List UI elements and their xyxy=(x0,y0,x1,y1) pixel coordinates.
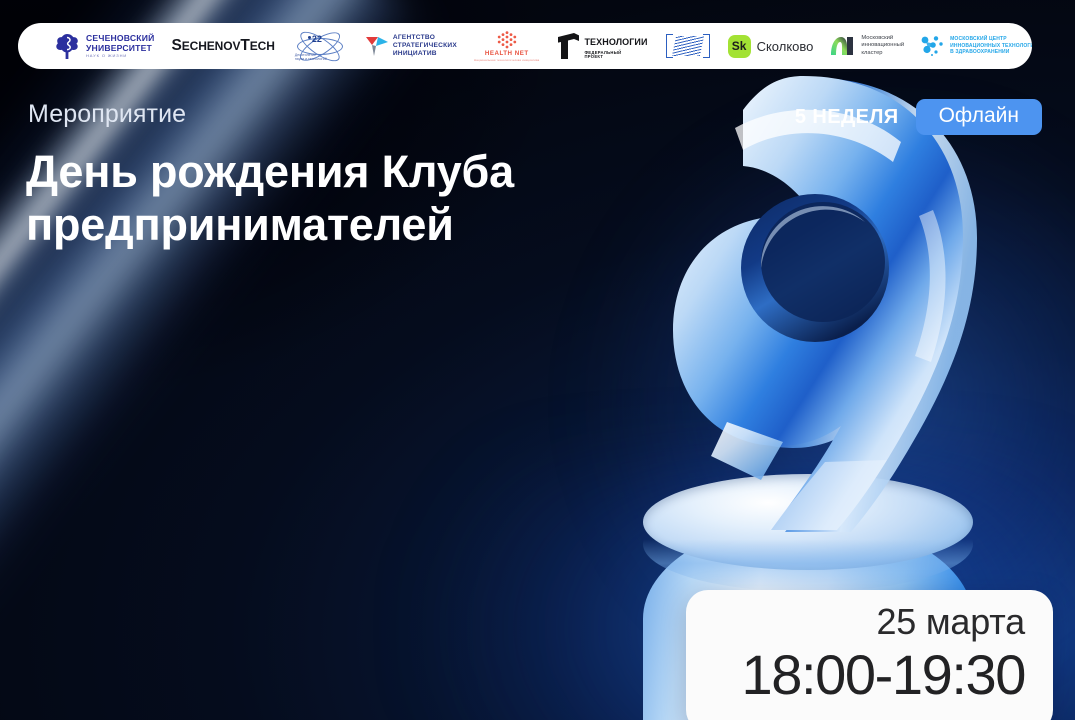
event-date: 25 марта xyxy=(706,604,1025,640)
event-time: 18:00-19:30 xyxy=(706,646,1025,705)
event-kicker: Мероприятие xyxy=(28,100,186,129)
event-card: СЕЧЕНОВСКИЙ УНИВЕРСИТЕТ НАУК О ЖИЗНИ SEC… xyxy=(0,0,1075,720)
date-time-card: 25 марта 18:00-19:30 xyxy=(686,590,1053,720)
event-title: День рождения Клуба предпринимателей xyxy=(26,146,646,251)
format-badge[interactable]: Офлайн xyxy=(916,99,1042,135)
week-label: 5 НЕДЕЛЯ xyxy=(795,106,899,129)
card-content: Мероприятие День рождения Клуба предприн… xyxy=(0,0,1075,720)
event-meta: 5 НЕДЕЛЯ Офлайн xyxy=(795,99,1042,135)
